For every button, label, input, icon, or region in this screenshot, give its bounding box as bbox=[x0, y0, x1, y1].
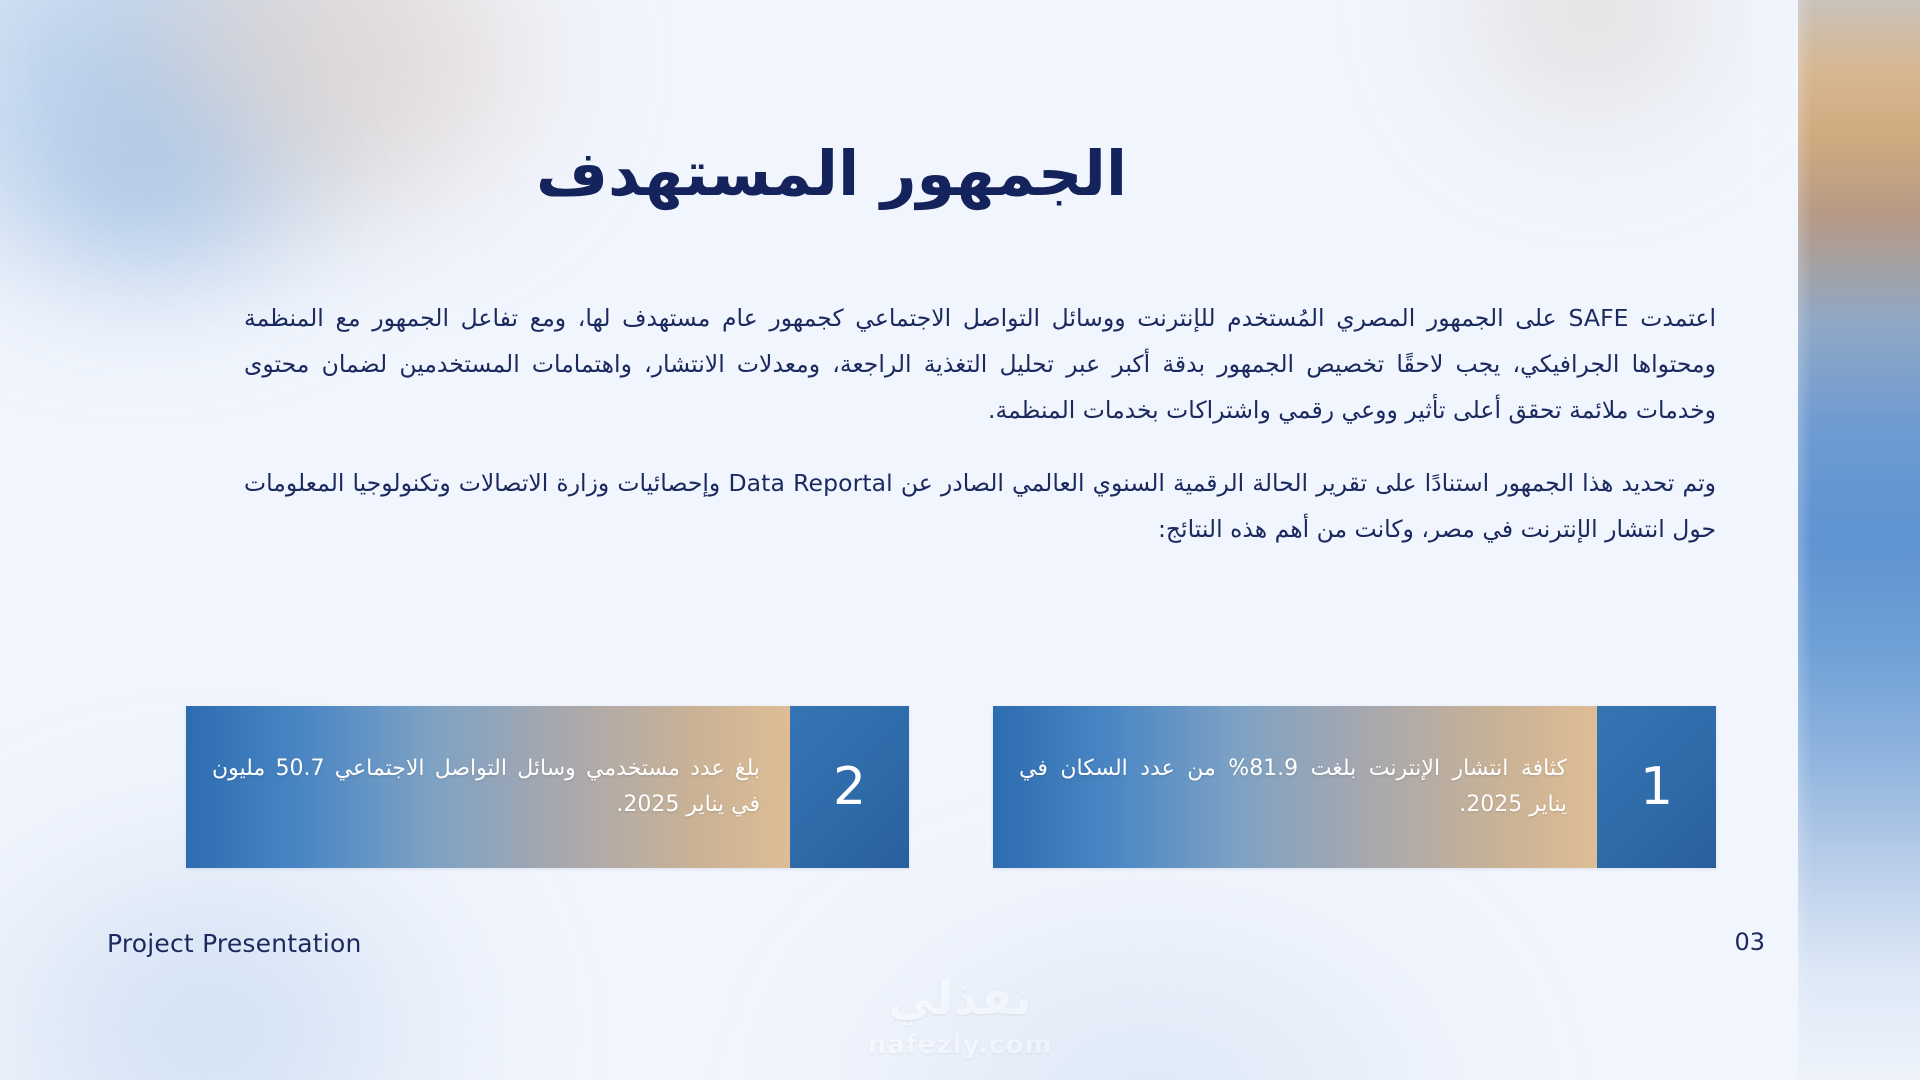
footer-label: Project Presentation bbox=[107, 929, 362, 958]
stat-card-text: كثافة انتشار الإنترنت بلغت 81.9% من عدد … bbox=[993, 706, 1597, 868]
stat-card-number: 1 bbox=[1597, 706, 1716, 868]
stat-card[interactable]: 1 كثافة انتشار الإنترنت بلغت 81.9% من عد… bbox=[993, 706, 1716, 868]
stat-card-text: بلغ عدد مستخدمي وسائل التواصل الاجتماعي … bbox=[186, 706, 790, 868]
body-text-block: اعتمدت SAFE على الجمهور المصري المُستخدم… bbox=[244, 296, 1716, 553]
watermark-arabic-text: نفذلي bbox=[888, 971, 1032, 1026]
body-paragraph-2: وتم تحديد هذا الجمهور استنادًا على تقرير… bbox=[244, 461, 1716, 553]
body-paragraph-1: اعتمدت SAFE على الجمهور المصري المُستخدم… bbox=[244, 296, 1716, 433]
watermark: نفذلي nafezly.com bbox=[0, 971, 1920, 1060]
slide-content: الجمهور المستهدف اعتمدت SAFE على الجمهور… bbox=[0, 0, 1920, 1080]
stat-card[interactable]: 2 بلغ عدد مستخدمي وسائل التواصل الاجتماع… bbox=[186, 706, 909, 868]
page-number: 03 bbox=[1734, 928, 1765, 956]
page-title: الجمهور المستهدف bbox=[536, 138, 1716, 209]
watermark-latin-text: nafezly.com bbox=[868, 1030, 1053, 1060]
stat-card-number: 2 bbox=[790, 706, 909, 868]
stat-card-list: 1 كثافة انتشار الإنترنت بلغت 81.9% من عد… bbox=[186, 706, 1716, 868]
presentation-slide: الجمهور المستهدف اعتمدت SAFE على الجمهور… bbox=[0, 0, 1920, 1080]
